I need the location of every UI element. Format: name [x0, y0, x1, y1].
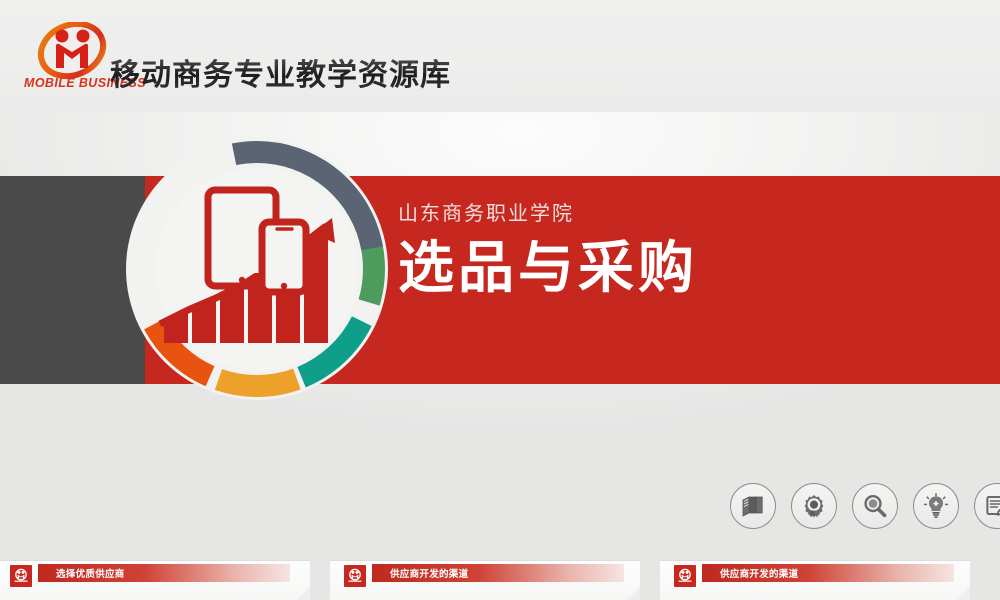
- page-fold-corner: [956, 587, 970, 600]
- books-icon[interactable]: [730, 483, 776, 529]
- thumbnail-label: 供应商开发的渠道: [390, 566, 468, 580]
- mobile-commerce-growth-emblem: [126, 138, 388, 400]
- thumbnail-label: 选择优质供应商: [56, 566, 125, 580]
- presentation-slide: MOBILE BUSINESS 移动商务专业教学资源库 山东商务职业学院 选品与…: [0, 0, 1000, 600]
- slide-header: MOBILE BUSINESS 移动商务专业教学资源库: [0, 0, 1000, 112]
- thumbnail-title-bar: 选择优质供应商: [38, 564, 290, 582]
- thumbnail-title-bar: 供应商开发的渠道: [702, 564, 954, 582]
- page-fold-corner: [626, 587, 640, 600]
- document-pen-icon[interactable]: [974, 483, 1000, 529]
- lightbulb-idea-icon[interactable]: [913, 483, 959, 529]
- slide-thumbnail[interactable]: 选择优质供应商: [0, 560, 310, 600]
- slide-thumbnail[interactable]: 供应商开发的渠道: [330, 560, 640, 600]
- thumbnail-logo-icon: [674, 565, 696, 587]
- banner-text-block: 山东商务职业学院 选品与采购: [398, 200, 958, 300]
- thumbnail-label: 供应商开发的渠道: [720, 566, 798, 580]
- page-fold-corner: [296, 587, 310, 600]
- thumbnail-title-bar: 供应商开发的渠道: [372, 564, 624, 582]
- slide-thumbnail-strip: 选择优质供应商 供应商开发的渠道: [0, 560, 1000, 600]
- mobile-business-circular-logo: [26, 22, 118, 80]
- course-title: 选品与采购: [398, 236, 958, 300]
- institution-name: 山东商务职业学院: [398, 200, 958, 228]
- slide-thumbnail[interactable]: 供应商开发的渠道: [660, 560, 970, 600]
- icon-row: [730, 483, 1000, 529]
- header-title: 移动商务专业教学资源库: [110, 58, 451, 94]
- thumbnail-logo-icon: [10, 565, 32, 587]
- magnifier-icon[interactable]: [852, 483, 898, 529]
- award-ribbon-icon[interactable]: [791, 483, 837, 529]
- thumbnail-logo-icon: [344, 565, 366, 587]
